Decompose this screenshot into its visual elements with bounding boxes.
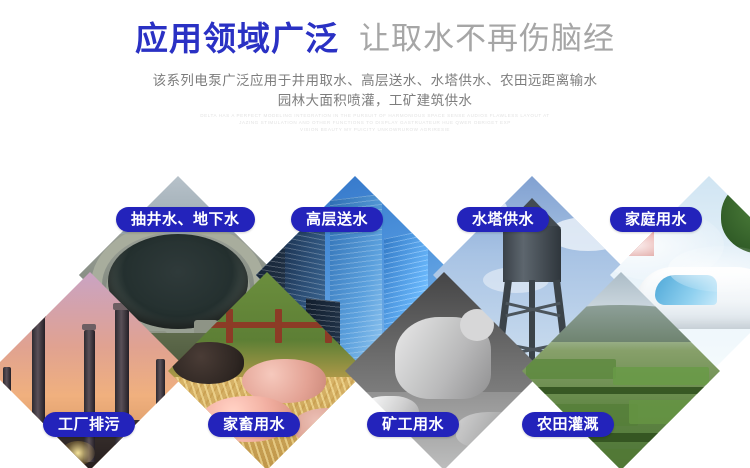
pill-farm-irrigation[interactable]: 农田灌溉	[522, 412, 614, 437]
decorative-latin-text: DELTA HAS A PERFECT MODELING INTEGRATION…	[0, 112, 750, 133]
latin-line-3: VISION BEAUTY MY PUICITY UNKOWRUROW AGRI…	[0, 126, 750, 132]
pill-factory-discharge[interactable]: 工厂排污	[43, 412, 135, 437]
pill-well-water[interactable]: 抽井水、地下水	[116, 207, 255, 232]
pill-household-water[interactable]: 家庭用水	[610, 207, 702, 232]
latin-line-1: DELTA HAS A PERFECT MODELING INTEGRATION…	[0, 112, 750, 118]
application-diamond-grid: 抽井水、地下水 高层送水 水塔供水 家庭用水 工厂排污 家畜用水 矿工用水 农田…	[0, 193, 750, 468]
pill-miner-water[interactable]: 矿工用水	[367, 412, 459, 437]
pill-water-tower[interactable]: 水塔供水	[457, 207, 549, 232]
page-title: 应用领域广泛	[135, 20, 339, 57]
page-subtitle: 让取水不再伤脑经	[359, 21, 615, 56]
title-row: 应用领域广泛让取水不再伤脑经	[0, 22, 750, 55]
pill-highrise-supply[interactable]: 高层送水	[291, 207, 383, 232]
description-line-1: 该系列电泵广泛应用于井用取水、高层送水、水塔供水、农田远距离输水	[0, 74, 750, 88]
promo-banner: 应用领域广泛让取水不再伤脑经 该系列电泵广泛应用于井用取水、高层送水、水塔供水、…	[0, 0, 750, 468]
description-line-2: 园林大面积喷灌，工矿建筑供水	[0, 94, 750, 108]
latin-line-2: JAZING STIMULATION AND OTHER FUNCTIONS T…	[0, 119, 750, 125]
pill-livestock-water[interactable]: 家畜用水	[208, 412, 300, 437]
